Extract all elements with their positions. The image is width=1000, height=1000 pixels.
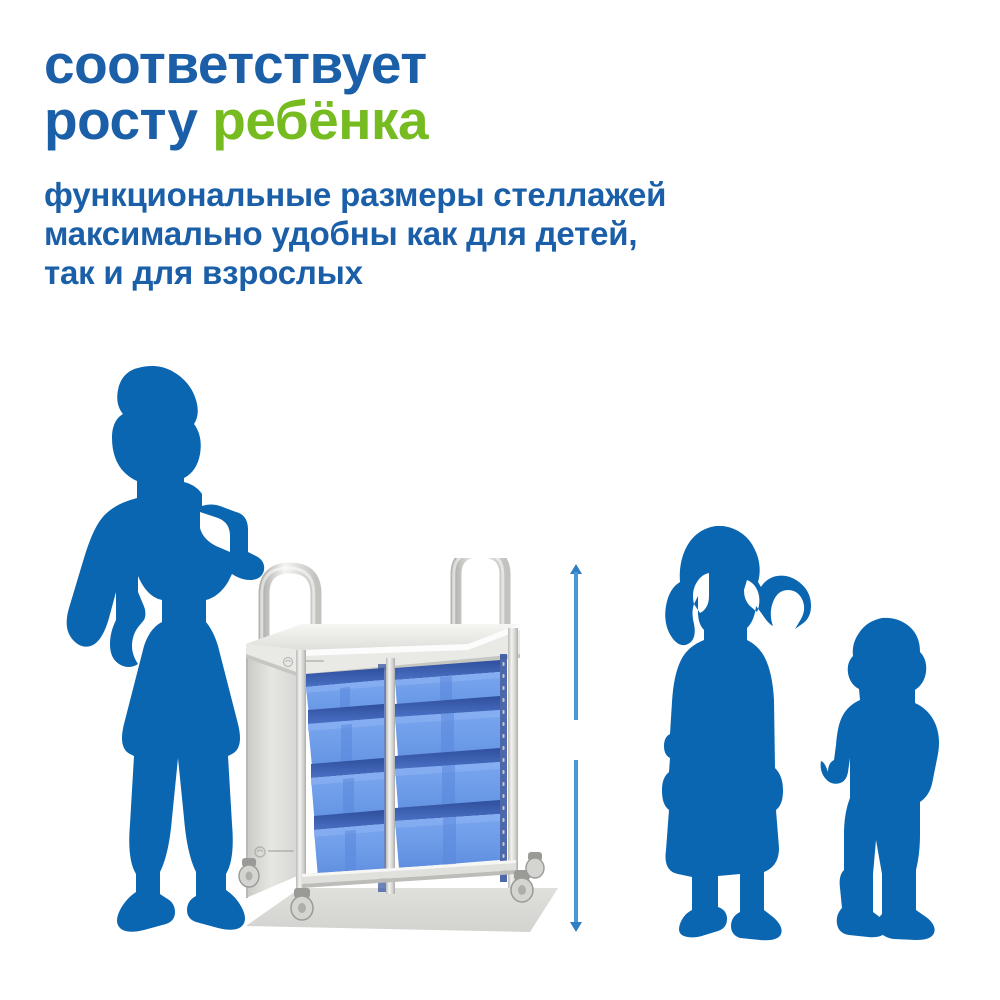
caster-front-left: [291, 888, 313, 920]
subhead-line-2: максимально удобны как для детей,: [44, 215, 844, 254]
headline-line-2: росту ребёнка: [44, 94, 824, 148]
headline-block: соответствует росту ребёнка: [44, 38, 824, 148]
subhead-line-3: так и для взрослых: [44, 254, 844, 293]
trolley-handle-right[interactable]: [454, 558, 505, 628]
arrow-down-icon: [570, 922, 582, 932]
dimension-line-upper: [574, 572, 578, 720]
caster-back-right: [526, 852, 544, 878]
height-dimension-arrow: [556, 562, 596, 934]
poster-canvas: соответствует росту ребёнка функциональн…: [0, 0, 1000, 1000]
silhouette-child-girl: [640, 520, 822, 942]
storage-trolley: [228, 558, 573, 960]
subhead-line-1: функциональные размеры стеллажей: [44, 176, 844, 215]
headline-line-1: соответствует: [44, 38, 824, 92]
subhead-block: функциональные размеры стеллажей максима…: [44, 176, 844, 293]
dimension-line-lower: [574, 760, 578, 922]
bin-r4-c2[interactable]: [395, 800, 500, 868]
post-perforations: [500, 654, 507, 882]
headline-line-2-accent: ребёнка: [212, 89, 428, 151]
silhouette-child-boy: [820, 612, 972, 942]
bin-r4-c1[interactable]: [314, 810, 384, 878]
headline-line-2-plain: росту: [44, 89, 212, 151]
caster-back-left: [239, 858, 259, 887]
